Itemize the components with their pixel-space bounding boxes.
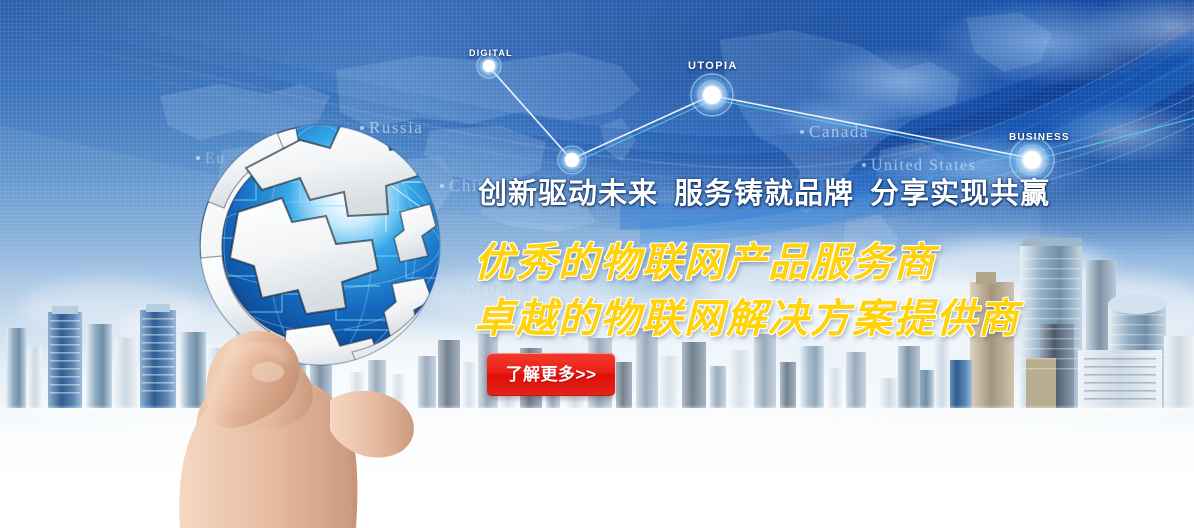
learn-more-button[interactable]: 了解更多>> [487,353,615,396]
subheading-line-2: 卓越的物联网解决方案提供商 [474,286,1020,344]
hero-banner: Russia Eu Chin Canada United States Aust… [0,0,1194,528]
subheading-line-1: 优秀的物联网产品服务商 [474,230,936,288]
headline-part-1: 创新驱动未来 [478,170,658,212]
copy-block: 创新驱动未来服务铸就品牌分享实现共赢 优秀的物联网产品服务商 卓越的物联网解决方… [0,0,1194,528]
headline-part-3: 分享实现共赢 [870,170,1050,212]
headline-part-2: 服务铸就品牌 [674,170,854,212]
headline: 创新驱动未来服务铸就品牌分享实现共赢 [478,170,1050,212]
